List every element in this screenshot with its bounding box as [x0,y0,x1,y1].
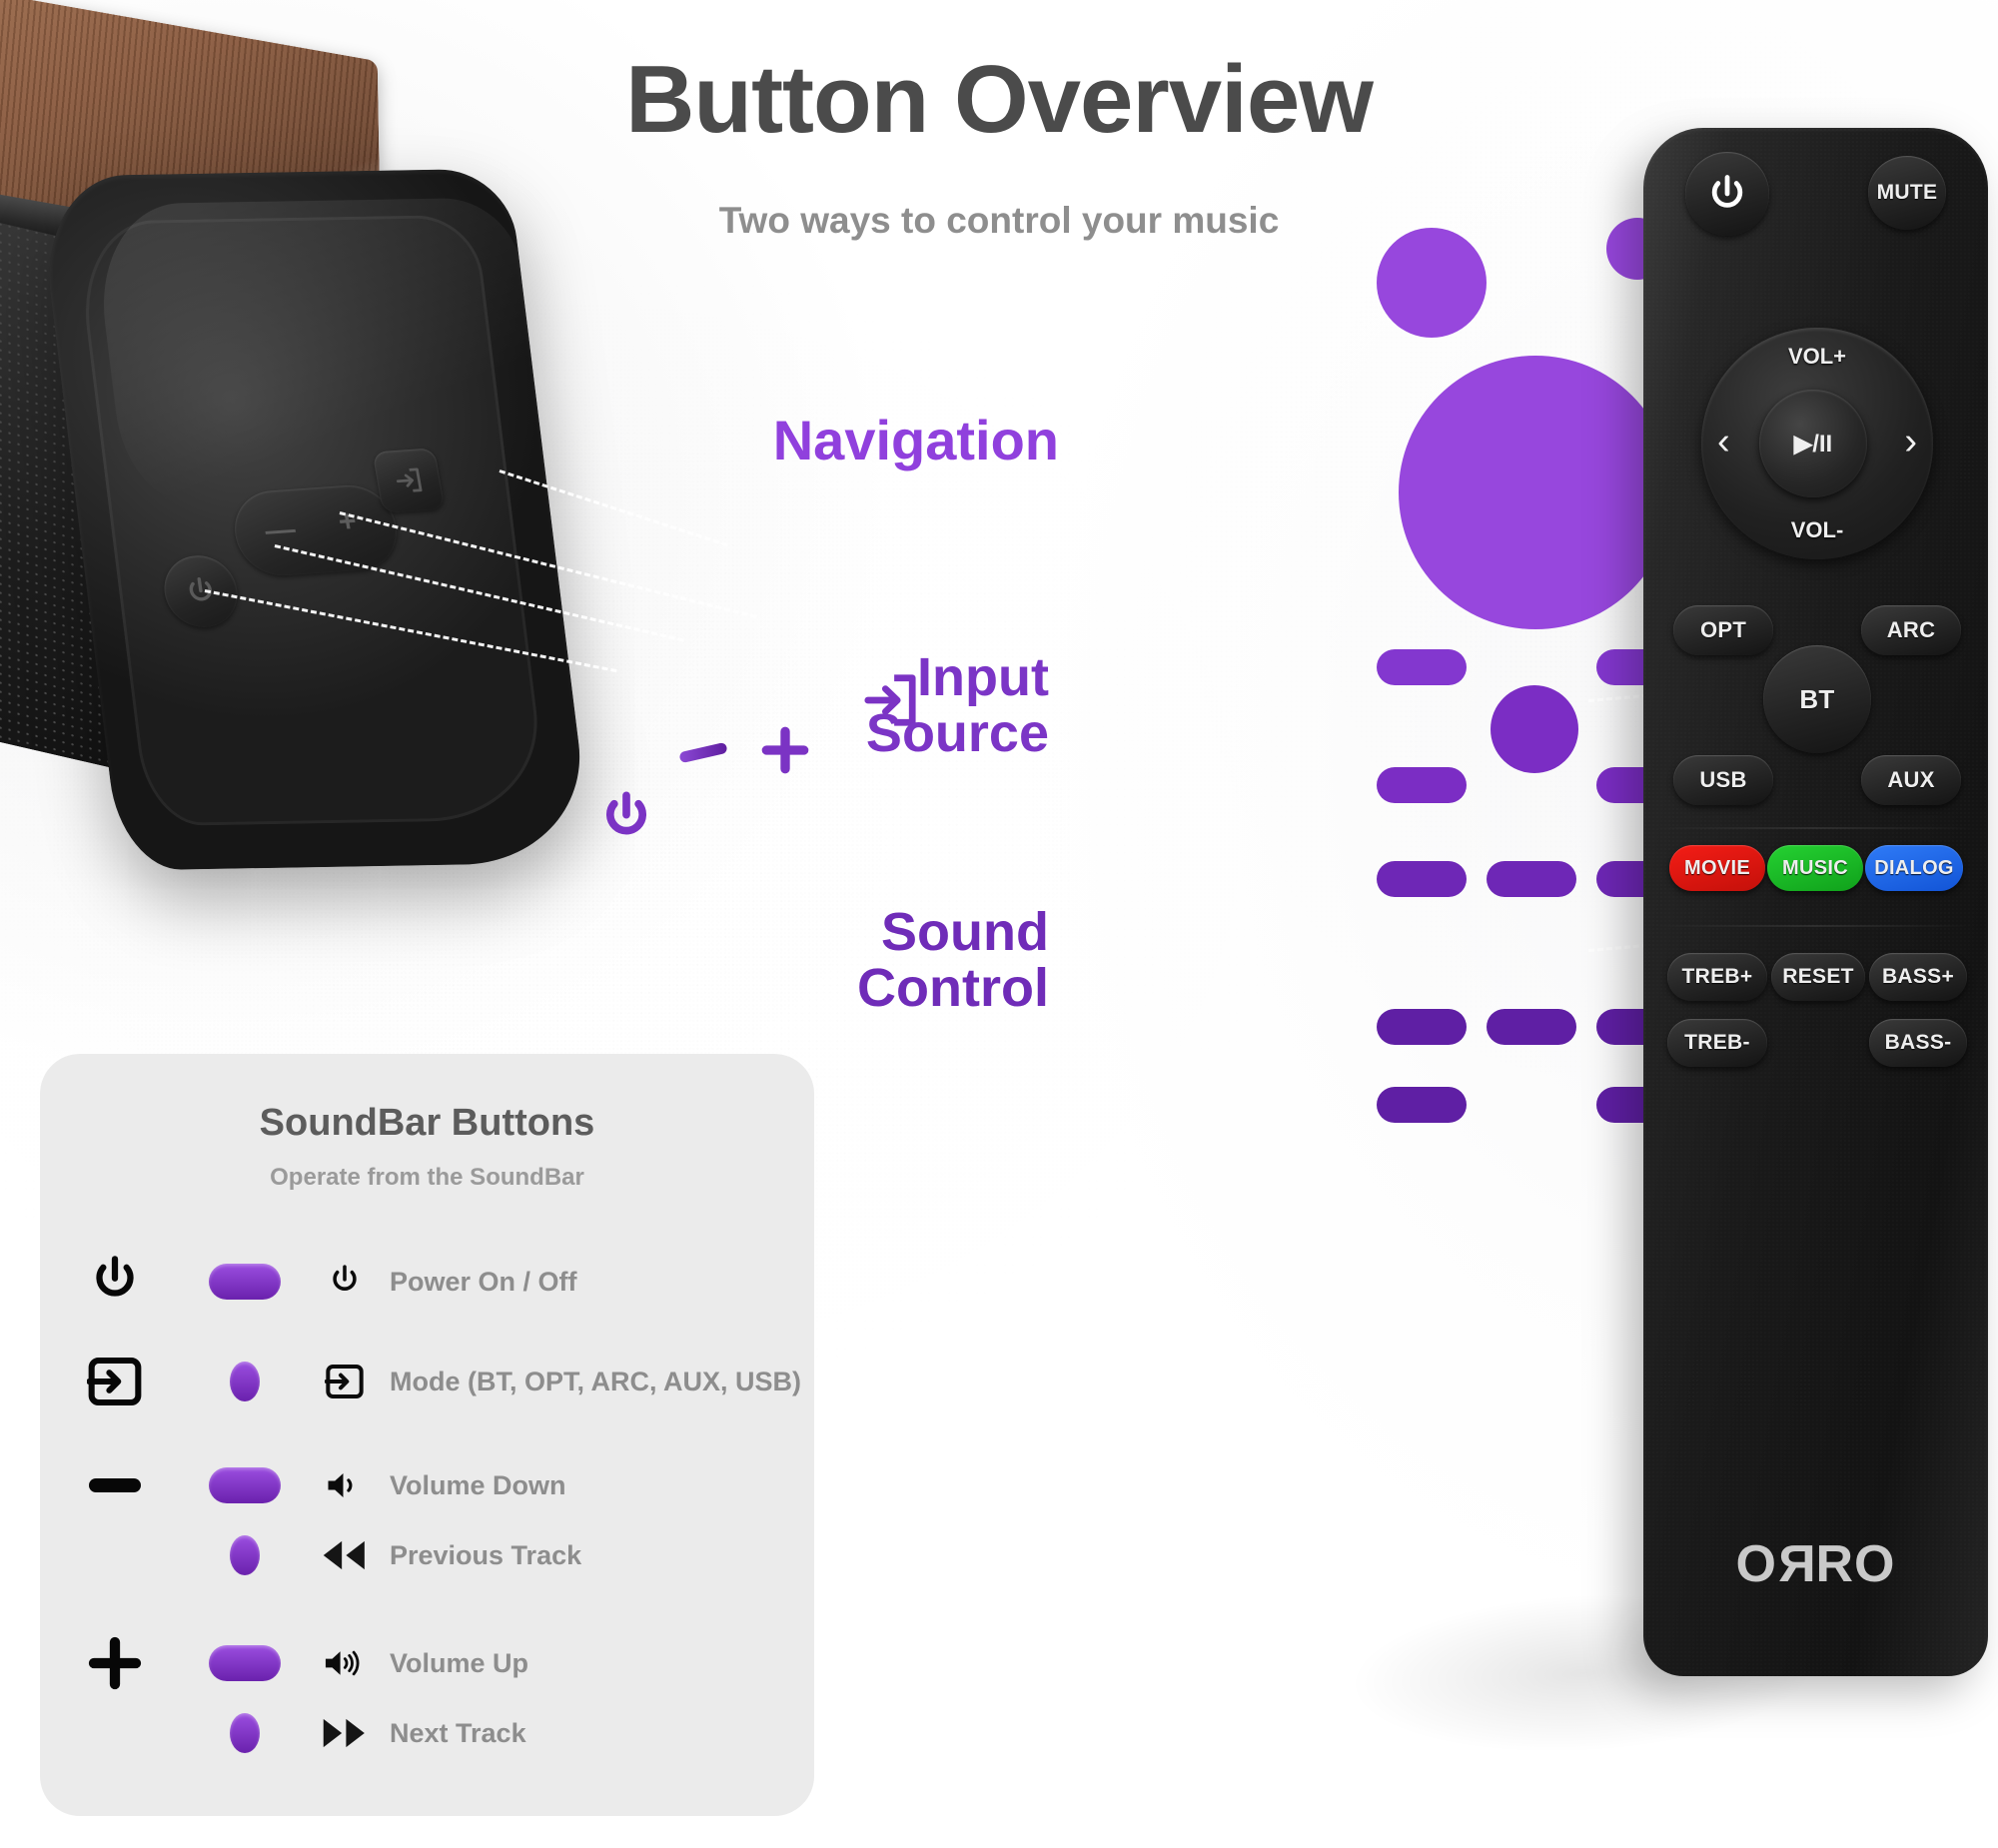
legend-bar-icon-cell [40,1635,190,1691]
usb-label: USB [1699,767,1746,793]
section-label-sound-control: Sound Control [857,904,1049,1016]
legend-function-icon-cell [300,1467,390,1503]
input-mode-icon [87,1356,143,1407]
remote-divider-1 [1655,827,1976,829]
movie-label: MOVIE [1684,857,1750,880]
remote-movie-button[interactable]: MOVIE [1669,845,1765,891]
legend-bar-icon-cell [40,1254,190,1310]
sound-control-label-line1: Sound [857,904,1049,960]
decor-bar-8 [1377,1009,1467,1045]
decor-circle-large [1399,356,1672,629]
minus-icon [89,1478,141,1492]
remote-dialog-button[interactable]: DIALOG [1865,845,1963,891]
section-label-input-source: Input Source [866,649,1049,761]
legend-label: Volume Up [390,1648,814,1679]
remote-power-button[interactable] [1685,152,1769,236]
remote-arc-button[interactable]: ARC [1861,605,1961,655]
remote-bt-button[interactable]: BT [1763,645,1871,753]
legend-chip-cell [190,1713,300,1753]
volume-low-icon [325,1467,365,1503]
decor-bar-3 [1377,767,1467,803]
input-mode-icon [325,1363,365,1400]
navigation-label-text: Navigation [773,409,1059,471]
decor-bar-11 [1377,1087,1467,1123]
remote-music-button[interactable]: MUSIC [1767,845,1863,891]
aux-label: AUX [1887,767,1934,793]
next-track-icon [320,1716,370,1750]
legend-function-icon-cell [300,1716,390,1750]
legend-function-icon-cell [300,1263,390,1301]
chip-dot [230,1362,260,1401]
chip-long [209,1264,281,1300]
remote-navigation-ring[interactable]: VOL+ VOL- ‹ › ▶/II [1701,328,1933,559]
bt-label: BT [1799,684,1834,715]
decor-bar-9 [1487,1009,1576,1045]
legend-subtitle: Operate from the SoundBar [40,1164,814,1192]
legend-label: Volume Down [390,1470,814,1501]
legend-row-mode: Mode (BT, OPT, ARC, AUX, USB) [40,1350,814,1413]
chevron-left-icon[interactable]: ‹ [1717,423,1730,461]
decor-circle-bt [1491,685,1578,773]
decor-circle-medium [1377,228,1487,338]
legend-function-icon-cell [300,1645,390,1681]
remote-bass-down-button[interactable]: BASS- [1869,1019,1967,1067]
minus-icon: — [263,513,299,549]
play-pause-label: ▶/II [1794,430,1832,459]
remote-aux-button[interactable]: AUX [1861,755,1961,805]
legend-row-volume-up: Volume Up [40,1631,814,1695]
remote-bass-up-button[interactable]: BASS+ [1869,953,1967,1001]
remote-control: MUTE VOL+ VOL- ‹ › ▶/II OPT ARC BT USB A… [1643,128,1988,1676]
callout-power-icon [599,789,653,854]
power-icon [328,1263,362,1301]
chip-long [209,1467,281,1503]
treb-minus-label: TREB- [1684,1031,1750,1055]
legend-function-icon-cell [300,1538,390,1572]
plus-icon: + [336,504,359,539]
input-mode-icon [391,464,426,496]
legend-row-volume-down: Volume Down [40,1453,814,1517]
remote-play-pause-button[interactable]: ▶/II [1759,390,1867,497]
decor-bar-1 [1377,649,1467,685]
legend-bar-icon-cell [40,1478,190,1492]
chip-dot [230,1535,260,1575]
legend-row-next-track: Next Track [40,1701,814,1765]
remote-brand-logo: ORRO [1643,1534,1988,1594]
remote-reset-button[interactable]: RESET [1771,953,1865,1001]
legend-chip-cell [190,1535,300,1575]
soundbar-highlight [91,197,549,501]
legend-function-icon-cell [300,1363,390,1400]
chevron-right-icon[interactable]: › [1904,423,1917,461]
bass-minus-label: BASS- [1885,1031,1952,1055]
legend-bar-icon-cell [40,1356,190,1407]
brand-mirrored-letter: R [1777,1534,1816,1594]
legend-chip-cell [190,1264,300,1300]
decor-bar-6 [1487,861,1576,897]
callout-plus-icon [757,719,813,786]
reset-label: RESET [1782,965,1854,989]
sound-control-label-line2: Control [857,960,1049,1016]
remote-usb-button[interactable]: USB [1673,755,1773,805]
music-label: MUSIC [1782,857,1848,880]
legend-label: Previous Track [390,1540,814,1571]
legend-label: Mode (BT, OPT, ARC, AUX, USB) [390,1367,814,1397]
legend-chip-cell [190,1645,300,1681]
section-label-navigation: Navigation [773,412,1059,469]
brand-prefix: O [1735,1535,1776,1593]
decor-bar-5 [1377,861,1467,897]
legend-label: Next Track [390,1718,814,1749]
power-icon [89,1254,141,1310]
brand-suffix: RO [1816,1535,1896,1593]
vol-up-label: VOL+ [1788,344,1846,370]
power-icon [599,789,653,849]
power-icon [1705,172,1749,216]
treb-plus-label: TREB+ [1682,965,1753,989]
poster-canvas: Button Overview Two ways to control your… [0,0,1998,1848]
callout-minus-icon [679,747,727,758]
input-source-label-line2: Source [866,705,1049,761]
remote-treble-up-button[interactable]: TREB+ [1667,953,1767,1001]
vol-down-label: VOL- [1791,517,1844,543]
chip-dot [230,1713,260,1753]
remote-mute-button[interactable]: MUTE [1868,156,1946,230]
legend-row-power: Power On / Off [40,1250,814,1314]
soundbar-buttons-legend: SoundBar Buttons Operate from the SoundB… [40,1054,814,1816]
legend-row-previous-track: Previous Track [40,1523,814,1587]
opt-label: OPT [1700,617,1746,643]
plus-icon [87,1635,143,1691]
legend-label: Power On / Off [390,1267,814,1298]
soundbar-photo: — + [0,20,659,1019]
chip-long [209,1645,281,1681]
remote-treble-down-button[interactable]: TREB- [1667,1019,1767,1067]
legend-chip-cell [190,1467,300,1503]
legend-chip-cell [190,1362,300,1401]
previous-track-icon [320,1538,370,1572]
volume-high-icon [323,1645,367,1681]
arc-label: ARC [1887,617,1936,643]
dialog-label: DIALOG [1874,857,1954,880]
input-source-label-line1: Input [866,649,1049,705]
remote-opt-button[interactable]: OPT [1673,605,1773,655]
plus-icon [757,719,813,781]
soundbar-mode-key[interactable] [373,448,446,512]
bass-plus-label: BASS+ [1882,965,1954,989]
soundbar-volume-key[interactable]: — + [228,482,403,578]
remote-divider-2 [1655,925,1976,927]
mute-label: MUTE [1877,181,1938,205]
legend-title: SoundBar Buttons [40,1102,814,1145]
